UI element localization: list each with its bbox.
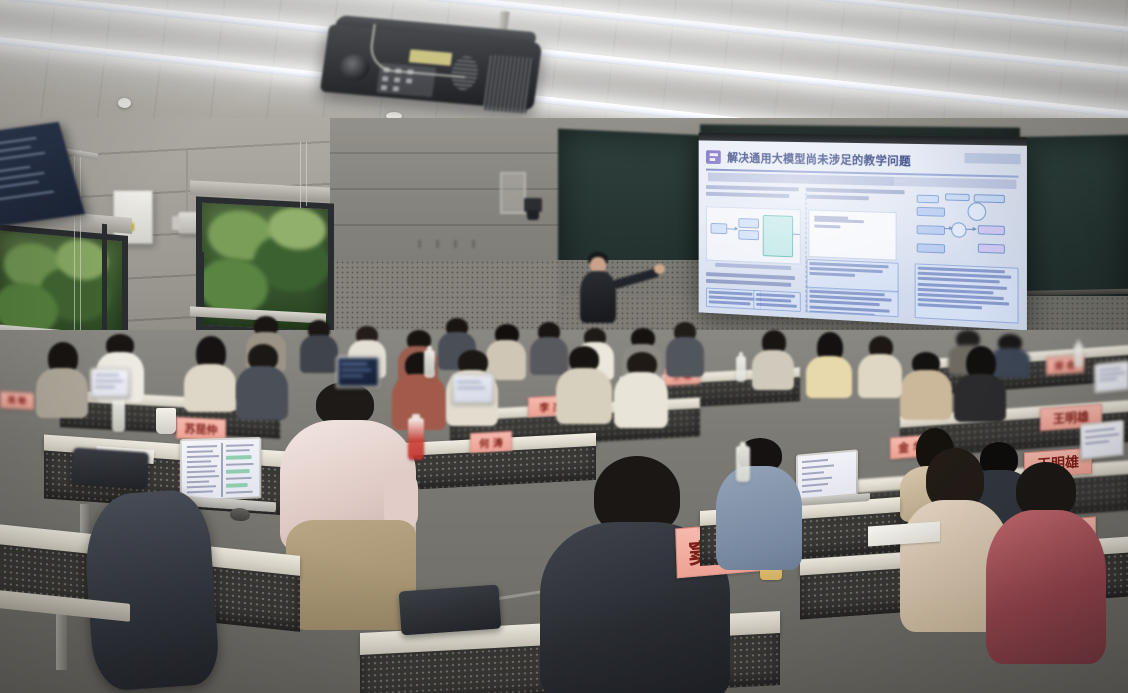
water-bottle	[112, 398, 125, 432]
jacket-on-chair	[81, 488, 220, 692]
wall-conduit	[186, 150, 188, 214]
water-bottle	[736, 356, 746, 382]
projector-vent-grille	[483, 54, 535, 113]
wall-recess-panel	[500, 172, 526, 214]
projection-screen: 解决通用大模型尚未涉足的教学问题	[699, 140, 1027, 330]
slide-columns	[706, 185, 1019, 324]
slide-column-left	[706, 185, 801, 312]
attendee	[752, 330, 794, 384]
slide-corner-tag	[964, 153, 1020, 164]
projector-lens-icon	[338, 53, 372, 81]
attendee	[666, 322, 704, 374]
attendee-foreground-pink-lower	[286, 520, 416, 630]
left-col-box-2	[753, 290, 801, 312]
attendee	[614, 352, 668, 424]
paper-cup	[156, 408, 176, 434]
attendee	[556, 346, 612, 420]
attendee	[184, 336, 236, 406]
blind-cord-b	[80, 150, 81, 334]
wall-camera-icon	[524, 198, 542, 212]
chalk-hooks-icon	[418, 240, 488, 248]
classroom-photo-scene: 解决通用大模型尚未涉足的教学问题	[0, 0, 1128, 693]
left-col-diagram	[706, 206, 801, 264]
smoke-detector-icon	[118, 98, 131, 108]
mid-col-box-1	[807, 287, 898, 318]
window-mullion-a	[102, 224, 107, 344]
right-col-diagram	[914, 191, 1018, 262]
attendee	[806, 332, 852, 390]
name-card: 周 敏	[0, 391, 34, 410]
slide-title: 解决通用大模型尚未涉足的教学问题	[727, 150, 911, 170]
computer-mouse[interactable]	[230, 507, 251, 521]
blind-cord-c	[300, 142, 301, 208]
mid-col-intro	[807, 188, 908, 205]
attendee-mid-right	[716, 438, 802, 566]
right-col-box-1	[914, 263, 1018, 323]
mid-col-screenshot-card	[809, 210, 897, 261]
name-card: 何 涛	[470, 431, 512, 453]
backpack-on-floor	[399, 585, 502, 636]
attendee-front-right-2	[986, 462, 1106, 662]
presenter-speaker	[570, 252, 662, 328]
slide-brand-logo-icon	[706, 150, 721, 164]
attendee	[300, 320, 338, 370]
attendee	[36, 342, 88, 412]
slide-surface: 解决通用大模型尚未涉足的教学问题	[699, 140, 1027, 330]
water-bottle	[424, 350, 435, 378]
slide-column-middle	[807, 188, 908, 318]
slide-column-right	[914, 191, 1018, 324]
left-col-intro	[706, 185, 801, 201]
attendee	[858, 336, 902, 392]
attendee	[900, 352, 952, 416]
desk-bag	[71, 447, 149, 488]
attendee	[952, 346, 1008, 418]
water-bottle	[408, 418, 424, 460]
left-col-diagram-caption	[715, 263, 791, 273]
water-bottle	[736, 446, 750, 482]
blind-cord-d	[306, 142, 307, 206]
